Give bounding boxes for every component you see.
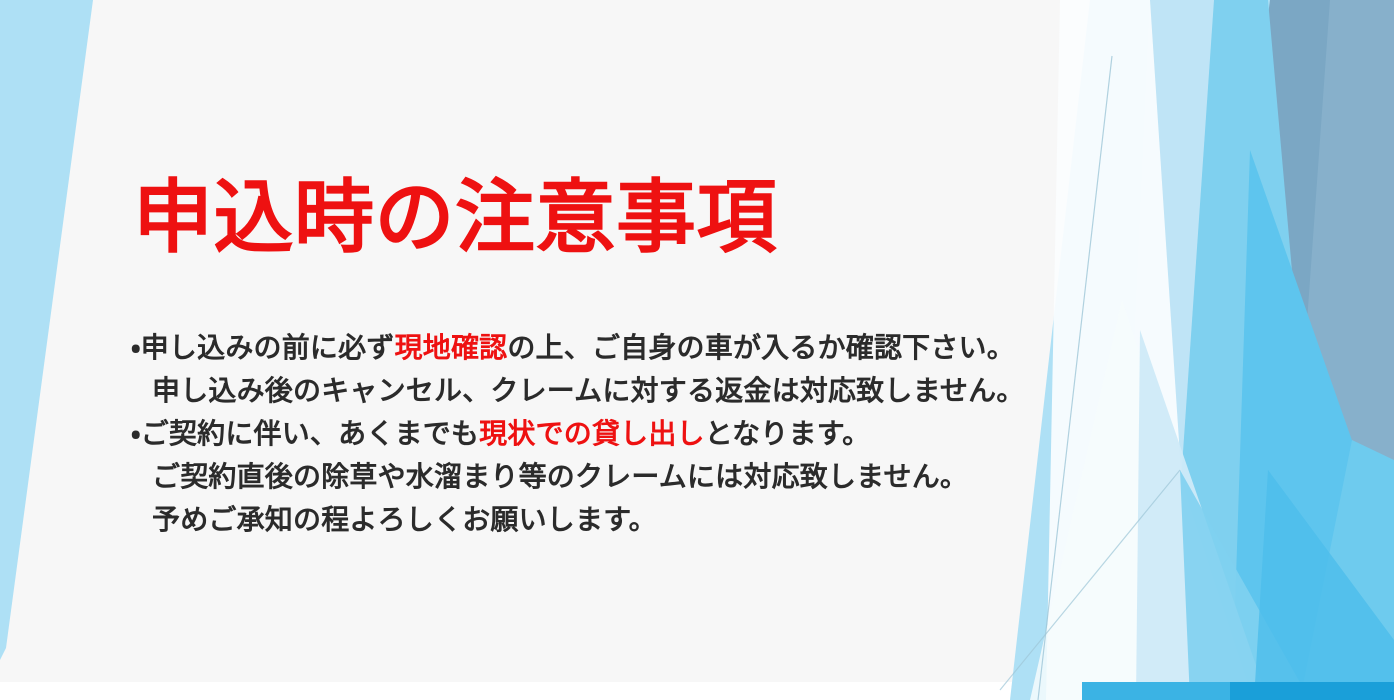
notes-text: となります。	[705, 418, 871, 449]
presentation-slide: 申込時の注意事項 ・申し込みの前に必ず現地確認の上、ご自身の車が入るか確認下さい…	[0, 0, 1394, 700]
notes-text: ご契約に伴い、あくまでも	[141, 418, 479, 449]
notes-line: ・申し込みの前に必ず現地確認の上、ご自身の車が入るか確認下さい。	[131, 326, 1131, 369]
bullet-marker: ・	[131, 332, 141, 363]
notes-line: ご契約直後の除草や水溜まり等のクレームには対応致しません。	[131, 455, 1131, 498]
notes-list: ・申し込みの前に必ず現地確認の上、ご自身の車が入るか確認下さい。申し込み後のキャ…	[131, 326, 1131, 541]
notes-text: 申し込みの前に必ず	[141, 332, 395, 363]
notes-line: 予めご承知の程よろしくお願いします。	[131, 498, 1131, 541]
notes-text: 申し込み後のキャンセル、クレームに対する返金は対応致しません。	[152, 375, 1025, 406]
bullet-marker: ・	[131, 418, 141, 449]
notes-line: 申し込み後のキャンセル、クレームに対する返金は対応致しません。	[131, 369, 1131, 412]
highlight-text: 現地確認	[395, 332, 508, 363]
page-title: 申込時の注意事項	[133, 178, 777, 258]
notes-text: ご契約直後の除草や水溜まり等のクレームには対応致しません。	[152, 461, 968, 492]
highlight-text: 現状での貸し出し	[479, 418, 705, 449]
slide-content: 申込時の注意事項 ・申し込みの前に必ず現地確認の上、ご自身の車が入るか確認下さい…	[0, 0, 1394, 700]
notes-text: の上、ご自身の車が入るか確認下さい。	[507, 332, 1015, 363]
notes-line: ・ご契約に伴い、あくまでも現状での貸し出しとなります。	[131, 412, 1131, 455]
notes-text: 予めご承知の程よろしくお願いします。	[152, 504, 657, 535]
